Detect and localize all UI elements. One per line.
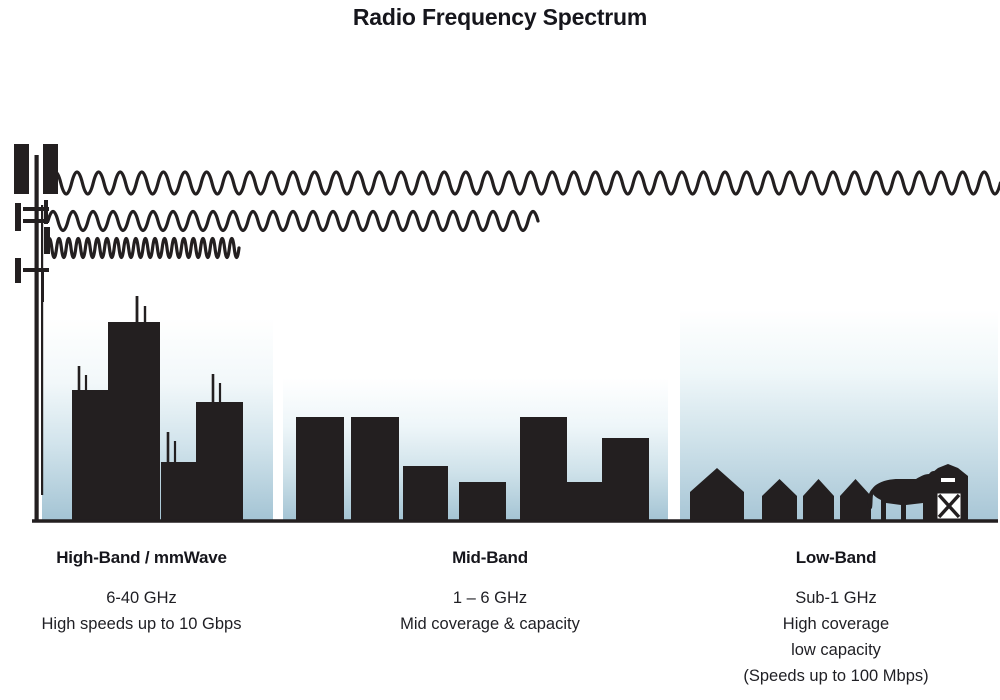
band-lines-mid-band: 1 – 6 GHz Mid coverage & capacity — [320, 585, 660, 637]
antenna-panel-small-bottom — [15, 258, 21, 283]
building-high-2 — [108, 322, 160, 520]
radio-waves — [47, 172, 1000, 258]
low-band-wave — [50, 172, 1000, 194]
band-lines-high-band: 6-40 GHz High speeds up to 10 Gbps — [0, 585, 283, 637]
building-mid-2 — [351, 417, 399, 520]
building-mid-4 — [459, 482, 506, 520]
band-line: 1 – 6 GHz — [320, 585, 660, 611]
band-caption-mid-band: Mid-Band 1 – 6 GHz Mid coverage & capaci… — [320, 548, 660, 637]
mid-band-wave — [48, 212, 538, 231]
antenna-panel-right — [43, 144, 58, 194]
band-line: Sub-1 GHz — [672, 585, 1000, 611]
building-mid-3 — [403, 466, 448, 520]
band-title-high-band: High-Band / mmWave — [0, 548, 283, 568]
barn-icon — [928, 464, 968, 520]
antenna-panel-vertical — [44, 200, 48, 224]
band-lines-low-band: Sub-1 GHz High coverage low capacity (Sp… — [672, 585, 1000, 689]
building-mid-5 — [520, 417, 567, 520]
antenna-panel-left — [14, 144, 29, 194]
high-band-wave — [47, 239, 239, 258]
band-line: High speeds up to 10 Gbps — [0, 611, 283, 637]
band-line: (Speeds up to 100 Mbps) — [672, 663, 1000, 689]
barn-loft-window — [941, 478, 955, 482]
building-mid-1 — [296, 417, 344, 520]
building-mid-7 — [602, 438, 649, 520]
band-line: 6-40 GHz — [0, 585, 283, 611]
band-line: High coverage — [672, 611, 1000, 637]
building-high-4 — [196, 402, 243, 520]
building-high-1 — [72, 390, 112, 520]
antenna-panel-small-left — [15, 203, 21, 231]
antenna-panel-small-mid — [44, 227, 50, 254]
building-mid-6 — [566, 482, 603, 520]
tower-mast-secondary — [41, 205, 43, 495]
tower-foot — [41, 272, 44, 302]
band-title-mid-band: Mid-Band — [320, 548, 660, 568]
band-caption-high-band: High-Band / mmWave 6-40 GHz High speeds … — [0, 548, 283, 637]
band-title-low-band: Low-Band — [672, 548, 1000, 568]
band-line: Mid coverage & capacity — [320, 611, 660, 637]
tower-crossbar-lower — [23, 268, 49, 272]
band-line: low capacity — [672, 637, 1000, 663]
band-caption-low-band: Low-Band Sub-1 GHz High coverage low cap… — [672, 548, 1000, 689]
